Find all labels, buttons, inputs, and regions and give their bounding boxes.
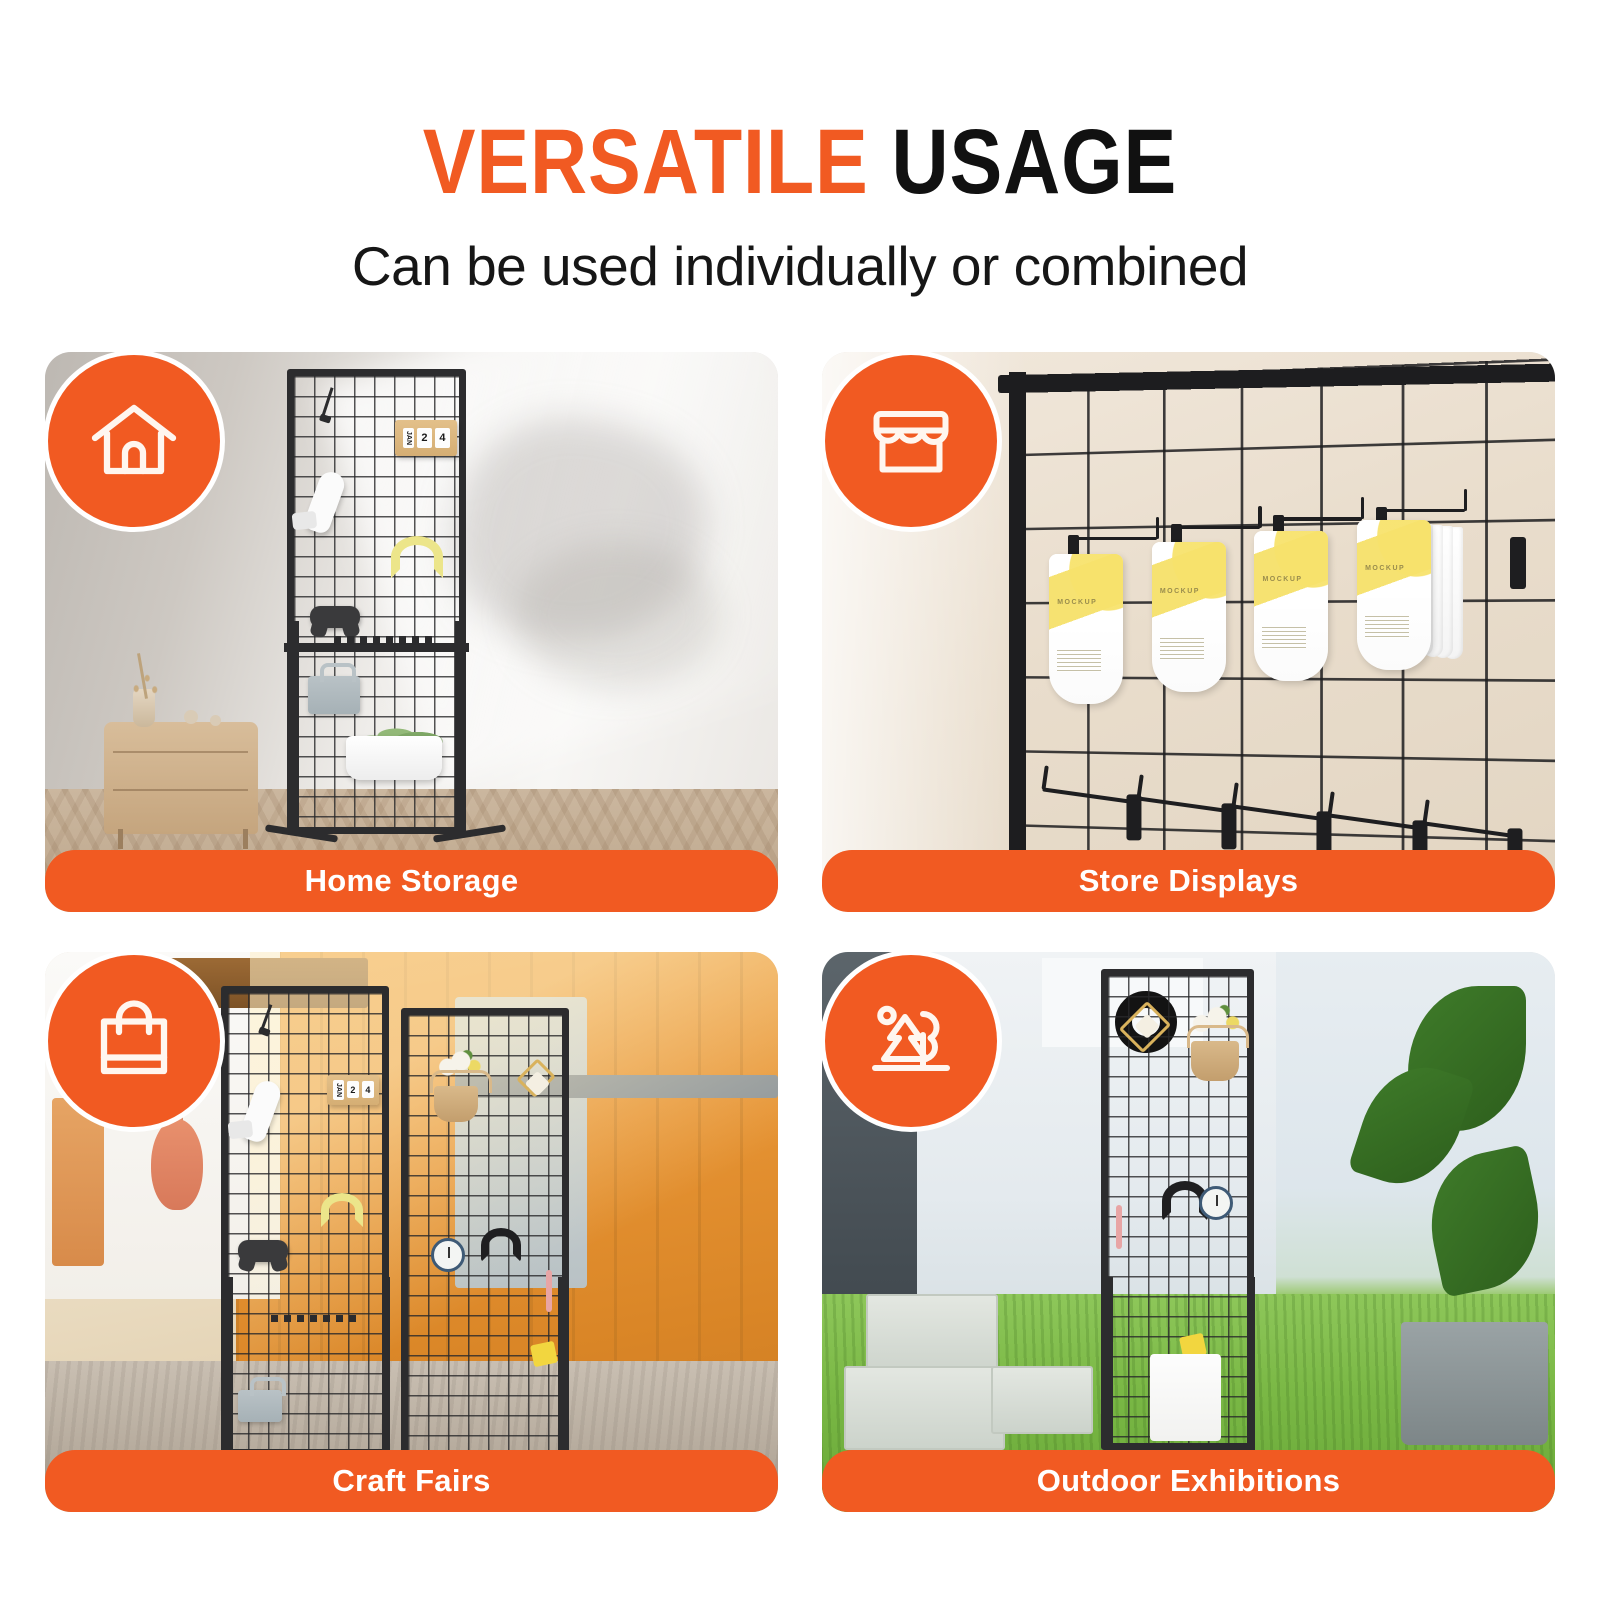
title-dark-word: USAGE bbox=[892, 111, 1178, 213]
scenario-badge-craft bbox=[48, 955, 220, 1127]
product-package bbox=[1357, 520, 1431, 670]
calendar-month: JAN bbox=[333, 1080, 344, 1100]
caption-label: Store Displays bbox=[1079, 863, 1299, 899]
header: VERSATILE USAGE Can be used individually… bbox=[0, 0, 1600, 298]
usage-scenario-grid: JAN 2 4 bbox=[45, 352, 1555, 1554]
calendar-day-left: 2 bbox=[417, 428, 432, 448]
product-package bbox=[1254, 531, 1328, 681]
page-title: VERSATILE USAGE bbox=[112, 116, 1488, 208]
caption-label: Home Storage bbox=[305, 863, 519, 899]
product-package bbox=[1049, 554, 1123, 704]
shopping-bag-icon bbox=[86, 993, 182, 1089]
scenario-card-craft-fairs[interactable]: JAN 2 4 bbox=[45, 952, 778, 1512]
caption-label: Craft Fairs bbox=[332, 1463, 490, 1499]
scenario-card-outdoor-exhibitions[interactable]: Outdoor Exhibitions bbox=[822, 952, 1555, 1512]
scenario-card-store-displays[interactable]: Store Displays bbox=[822, 352, 1555, 912]
park-tree-icon bbox=[863, 993, 959, 1089]
scenario-badge-home bbox=[48, 355, 220, 527]
home-icon bbox=[86, 393, 182, 489]
scenario-caption-craft: Craft Fairs bbox=[45, 1450, 778, 1512]
scenario-badge-store bbox=[825, 355, 997, 527]
calendar-day-left: 2 bbox=[347, 1081, 359, 1098]
scenario-badge-outdoor bbox=[825, 955, 997, 1127]
flip-calendar: JAN 2 4 bbox=[395, 420, 457, 456]
scenario-caption-store: Store Displays bbox=[822, 850, 1555, 912]
scenario-card-home-storage[interactable]: JAN 2 4 bbox=[45, 352, 778, 912]
title-accent-word: VERSATILE bbox=[423, 111, 869, 213]
calendar-day-right: 4 bbox=[435, 428, 450, 448]
storefront-icon bbox=[863, 393, 959, 489]
page-subtitle: Can be used individually or combined bbox=[0, 234, 1600, 298]
caption-label: Outdoor Exhibitions bbox=[1037, 1463, 1341, 1499]
calendar-day-right: 4 bbox=[362, 1081, 374, 1098]
scenario-caption-home: Home Storage bbox=[45, 850, 778, 912]
scenario-caption-outdoor: Outdoor Exhibitions bbox=[822, 1450, 1555, 1512]
product-package bbox=[1152, 542, 1226, 692]
calendar-month: JAN bbox=[403, 428, 414, 448]
product-feature-graphic: VERSATILE USAGE Can be used individually… bbox=[0, 0, 1600, 1600]
